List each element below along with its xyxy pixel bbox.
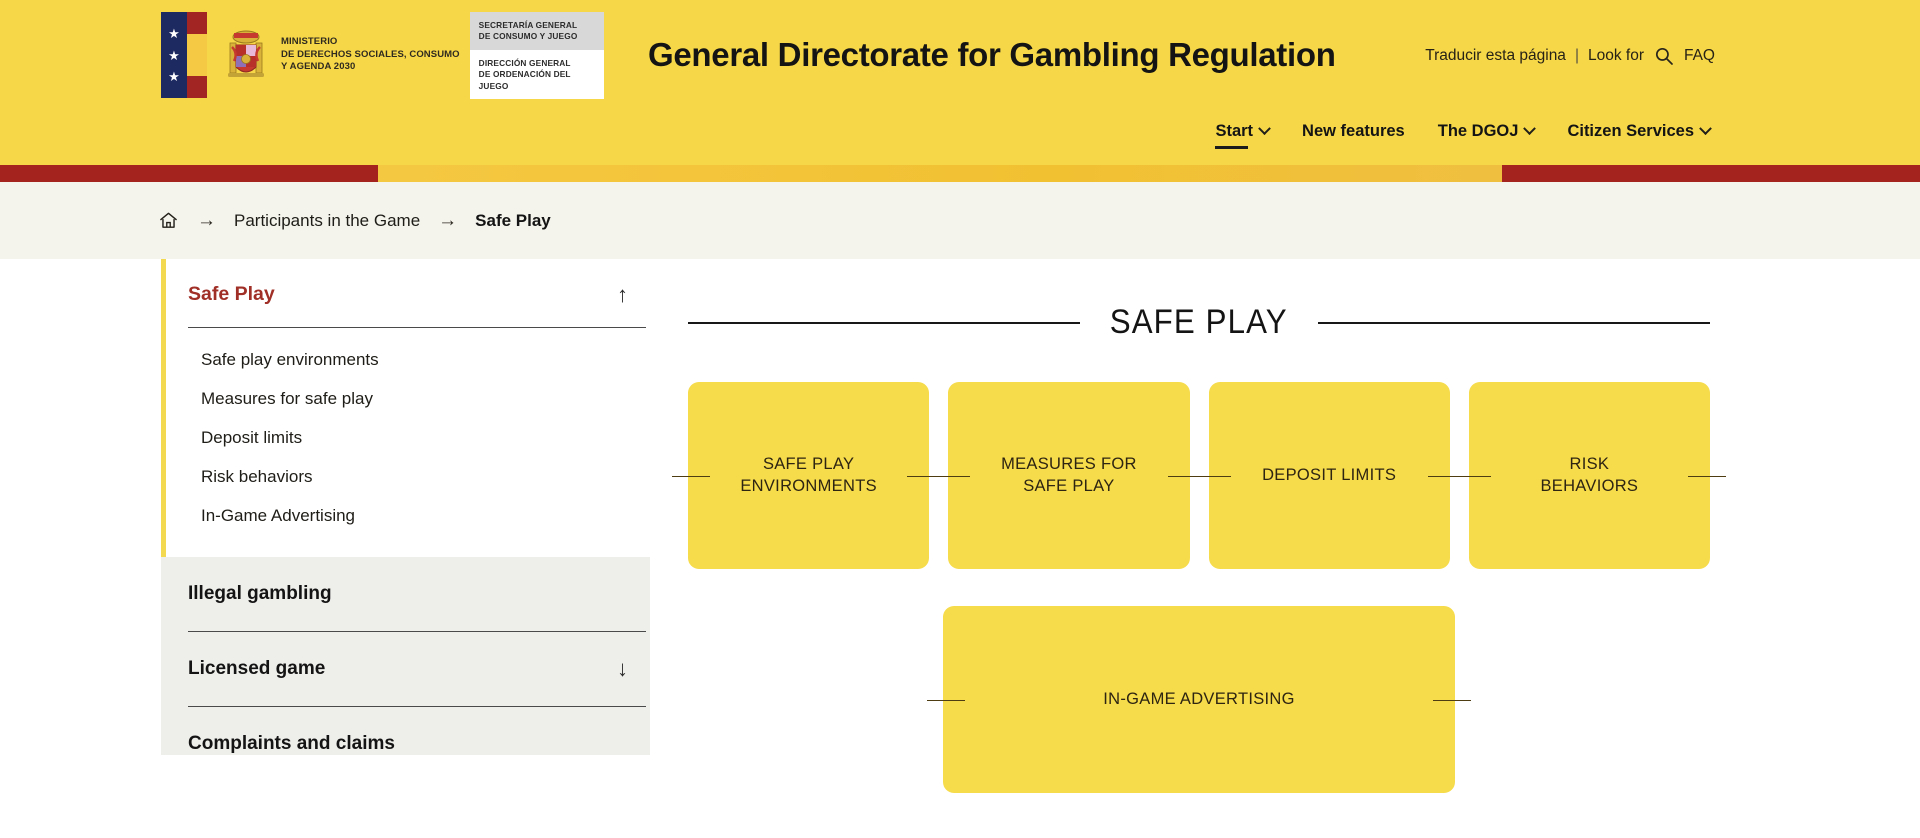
sidebar-item-risk-behaviors[interactable]: Risk behaviors bbox=[188, 457, 650, 496]
star-icon: ★ bbox=[168, 70, 180, 83]
card-deposit-limits[interactable]: DEPOSIT LIMITS bbox=[1209, 382, 1450, 569]
band-center-gold bbox=[378, 165, 1502, 182]
card-measures-for-safe-play[interactable]: MEASURES FOR SAFE PLAY bbox=[948, 382, 1189, 569]
sidebar-item-measures-for-safe-play[interactable]: Measures for safe play bbox=[188, 379, 650, 418]
nav-item-start[interactable]: Start bbox=[1215, 122, 1269, 149]
sidebar-group-header[interactable]: Complaints and claims bbox=[188, 707, 646, 755]
org-line: DE ORDENACIÓN DEL bbox=[479, 69, 595, 80]
sidebar-section-illegal-gambling[interactable]: Illegal gambling bbox=[161, 557, 650, 632]
eu-spain-flag-strip: ★ ★ ★ bbox=[161, 12, 207, 98]
card-label: MEASURES FOR SAFE PLAY bbox=[967, 454, 1171, 496]
title-rule-left bbox=[688, 322, 1080, 324]
faq-link[interactable]: FAQ bbox=[1684, 47, 1715, 65]
sidebar: Safe Play ↑ Safe play environments Measu… bbox=[0, 259, 650, 838]
utility-nav: Traducir esta página | Look for FAQ bbox=[1425, 46, 1715, 66]
card-grid-row-2: IN-GAME ADVERTISING bbox=[688, 606, 1710, 793]
ministry-line: Y AGENDA 2030 bbox=[281, 61, 460, 74]
org-line: DE CONSUMO Y JUEGO bbox=[479, 31, 595, 42]
sidebar-item-deposit-limits[interactable]: Deposit limits bbox=[188, 418, 650, 457]
decorative-flag-band bbox=[0, 165, 1920, 182]
spain-flag bbox=[187, 12, 207, 98]
main-content: SAFE PLAY SAFE PLAY ENVIRONMENTS MEASURE… bbox=[650, 259, 1920, 838]
star-icon: ★ bbox=[168, 27, 180, 40]
nav-label: The DGOJ bbox=[1438, 122, 1519, 141]
org-line: DIRECCIÓN GENERAL bbox=[479, 58, 595, 69]
nav-item-new-features[interactable]: New features bbox=[1302, 122, 1405, 149]
nav-label: New features bbox=[1302, 122, 1405, 141]
sidebar-group-label: Illegal gambling bbox=[188, 583, 332, 605]
card-risk-behaviors[interactable]: RISK BEHAVIORS bbox=[1469, 382, 1710, 569]
band-left-red bbox=[0, 165, 378, 182]
sidebar-section-header[interactable]: Safe Play ↑ bbox=[188, 283, 646, 306]
card-label: SAFE PLAY ENVIRONMENTS bbox=[706, 454, 911, 496]
card-label: RISK BEHAVIORS bbox=[1506, 454, 1672, 496]
sidebar-group-label: Complaints and claims bbox=[188, 733, 395, 755]
eu-flag: ★ ★ ★ bbox=[161, 12, 187, 98]
breadcrumb-arrow-icon: → bbox=[197, 210, 216, 232]
ministry-block: MINISTERIO DE DERECHOS SOCIALES, CONSUMO… bbox=[207, 12, 470, 98]
sidebar-group-label: Licensed game bbox=[188, 658, 325, 680]
nav-item-the-dgoj[interactable]: The DGOJ bbox=[1438, 122, 1535, 149]
card-in-game-advertising[interactable]: IN-GAME ADVERTISING bbox=[943, 606, 1455, 793]
spain-coat-of-arms-icon bbox=[221, 23, 271, 87]
band-right-red bbox=[1502, 165, 1920, 182]
page-title-row: SAFE PLAY bbox=[688, 259, 1710, 342]
ministry-line: MINISTERIO bbox=[281, 36, 460, 49]
sidebar-group-header[interactable]: Licensed game ↓ bbox=[188, 632, 646, 680]
card-label: DEPOSIT LIMITS bbox=[1228, 465, 1430, 486]
site-title: General Directorate for Gambling Regulat… bbox=[648, 36, 1336, 74]
search-icon[interactable] bbox=[1654, 46, 1674, 66]
home-icon[interactable] bbox=[158, 210, 179, 231]
ministry-name: MINISTERIO DE DERECHOS SOCIALES, CONSUMO… bbox=[281, 36, 460, 74]
title-rule-right bbox=[1318, 322, 1710, 324]
org-line: SECRETARÍA GENERAL bbox=[479, 20, 595, 31]
sidebar-section-title: Safe Play bbox=[188, 283, 275, 306]
translate-page-link[interactable]: Traducir esta página bbox=[1425, 47, 1566, 65]
chevron-down-icon bbox=[1699, 122, 1712, 135]
sidebar-section-complaints-and-claims[interactable]: Complaints and claims bbox=[161, 707, 650, 755]
star-icon: ★ bbox=[168, 49, 180, 62]
breadcrumb-item-participants[interactable]: Participants in the Game bbox=[234, 211, 420, 231]
nav-item-citizen-services[interactable]: Citizen Services bbox=[1567, 122, 1710, 149]
card-label: IN-GAME ADVERTISING bbox=[1069, 689, 1329, 710]
main-navigation: Start New features The DGOJ Citizen Serv… bbox=[1215, 122, 1710, 149]
site-header: ★ ★ ★ bbox=[0, 0, 1920, 165]
sidebar-section-safe-play: Safe Play ↑ Safe play environments Measu… bbox=[161, 259, 650, 557]
secretaria-general-block: SECRETARÍA GENERAL DE CONSUMO Y JUEGO bbox=[470, 12, 604, 50]
card-safe-play-environments[interactable]: SAFE PLAY ENVIRONMENTS bbox=[688, 382, 929, 569]
arrow-up-icon[interactable]: ↑ bbox=[617, 284, 628, 306]
page-title: SAFE PLAY bbox=[1110, 303, 1288, 342]
card-grid-row-1: SAFE PLAY ENVIRONMENTS MEASURES FOR SAFE… bbox=[688, 382, 1710, 569]
breadcrumb: → Participants in the Game → Safe Play bbox=[0, 182, 1920, 259]
organization-box: SECRETARÍA GENERAL DE CONSUMO Y JUEGO DI… bbox=[470, 12, 604, 98]
chevron-down-icon bbox=[1258, 122, 1271, 135]
nav-label: Start bbox=[1215, 122, 1253, 141]
direccion-general-block: DIRECCIÓN GENERAL DE ORDENACIÓN DEL JUEG… bbox=[470, 50, 604, 99]
arrow-down-icon[interactable]: ↓ bbox=[617, 658, 628, 680]
government-logo[interactable]: ★ ★ ★ bbox=[161, 12, 604, 98]
sidebar-links: Safe play environments Measures for safe… bbox=[188, 328, 650, 535]
chevron-down-icon bbox=[1524, 122, 1537, 135]
sidebar-item-safe-play-environments[interactable]: Safe play environments bbox=[188, 340, 650, 379]
sidebar-section-licensed-game[interactable]: Licensed game ↓ bbox=[161, 632, 650, 707]
ministry-line: DE DERECHOS SOCIALES, CONSUMO bbox=[281, 49, 460, 62]
breadcrumb-arrow-icon: → bbox=[438, 210, 457, 232]
page-body: Safe Play ↑ Safe play environments Measu… bbox=[0, 259, 1920, 838]
utility-separator: | bbox=[1575, 47, 1579, 65]
sidebar-item-in-game-advertising[interactable]: In-Game Advertising bbox=[188, 496, 650, 535]
nav-label: Citizen Services bbox=[1567, 122, 1694, 141]
sidebar-group-header[interactable]: Illegal gambling bbox=[188, 557, 646, 605]
search-link[interactable]: Look for bbox=[1588, 47, 1644, 65]
breadcrumb-item-current: Safe Play bbox=[475, 211, 551, 231]
org-line: JUEGO bbox=[479, 81, 595, 92]
